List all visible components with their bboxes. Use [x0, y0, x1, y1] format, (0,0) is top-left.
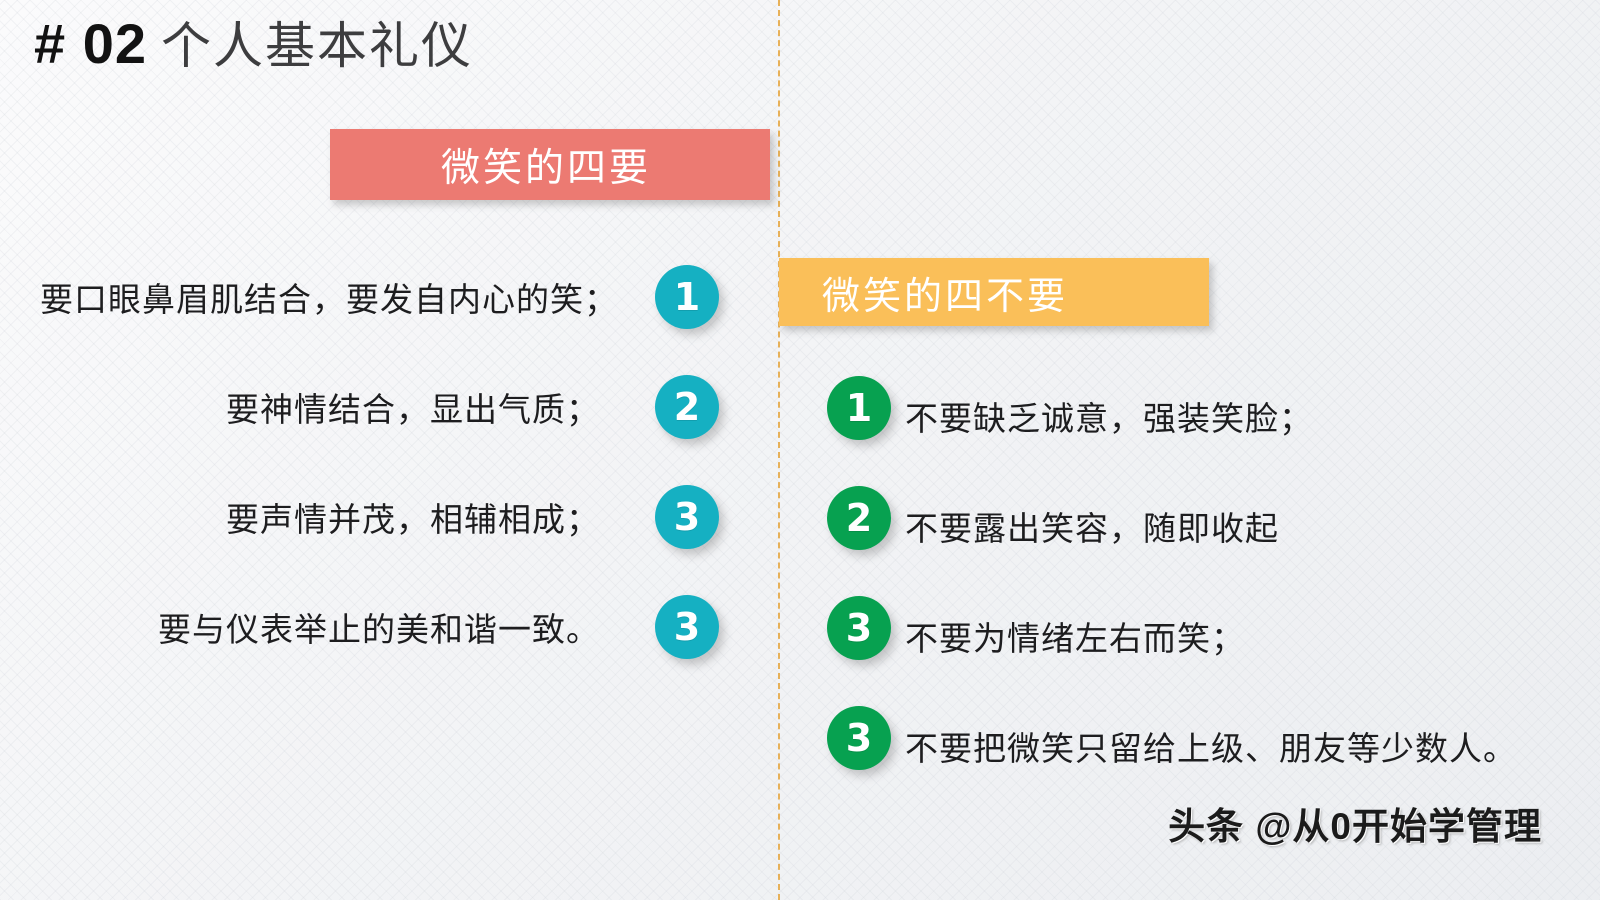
left-item-text-2: 要神情结合，显出气质； — [40, 395, 600, 428]
right-item-text-1: 不要缺乏诚意，强装笑脸； — [905, 404, 1313, 437]
title-heading-text: 个人基本礼仪 — [161, 18, 473, 74]
title-section-number: # 02 — [34, 12, 147, 75]
banner-left: 微笑的四要 — [330, 129, 770, 200]
right-item-text-4: 不要把微笑只留给上级、朋友等少数人。 — [905, 734, 1517, 767]
left-item-badge-4: 3 — [655, 595, 719, 659]
right-item-badge-2: 2 — [827, 486, 891, 550]
left-item-text-1: 要口眼鼻眉肌结合，要发自内心的笑； — [40, 285, 600, 318]
banner-right: 微笑的四不要 — [779, 258, 1209, 326]
left-item-text-3: 要声情并茂，相辅相成； — [40, 505, 600, 538]
left-item-badge-3: 3 — [655, 485, 719, 549]
left-item-badge-2: 2 — [655, 375, 719, 439]
slide-canvas: # 02个人基本礼仪 微笑的四要 微笑的四不要 要口眼鼻眉肌结合，要发自内心的笑… — [0, 0, 1600, 900]
right-item-text-2: 不要露出笑容，随即收起 — [905, 514, 1279, 547]
watermark: 头条 @从0开始学管理 — [1168, 796, 1542, 850]
page-title: # 02个人基本礼仪 — [34, 16, 473, 72]
right-item-badge-4: 3 — [827, 706, 891, 770]
column-divider — [778, 0, 780, 900]
left-item-badge-1: 1 — [655, 265, 719, 329]
right-item-badge-3: 3 — [827, 596, 891, 660]
right-item-text-3: 不要为情绪左右而笑； — [905, 624, 1245, 657]
left-item-text-4: 要与仪表举止的美和谐一致。 — [40, 615, 600, 648]
banner-left-label: 微笑的四要 — [441, 137, 659, 193]
right-item-badge-1: 1 — [827, 376, 891, 440]
banner-right-label: 微笑的四不要 — [822, 265, 1068, 320]
